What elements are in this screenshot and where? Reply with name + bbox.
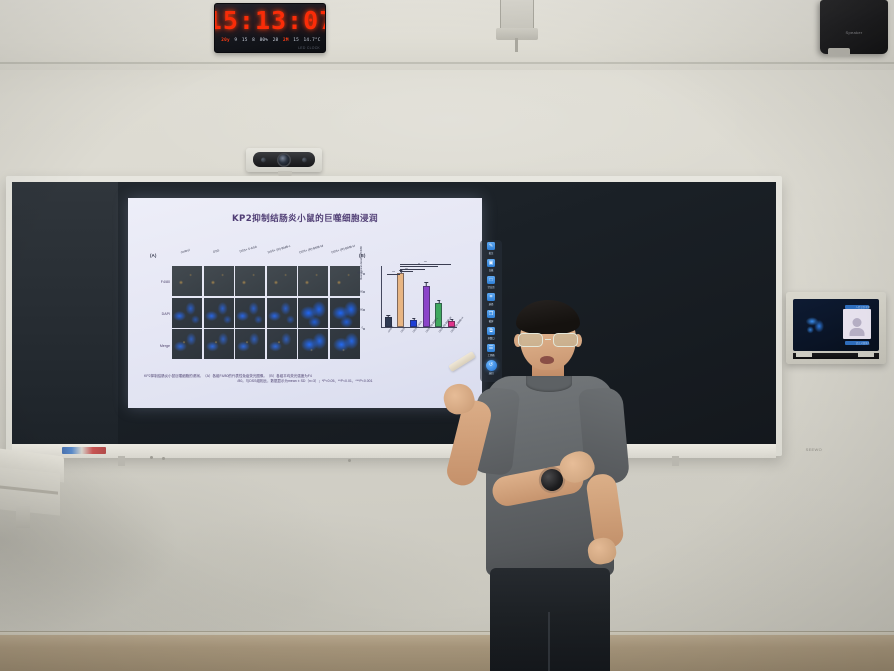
error-cap-3 xyxy=(425,282,428,283)
toolbar-label-2: 空白页 xyxy=(488,285,495,289)
tablet-footer-label: 请正对摄像头 xyxy=(856,341,870,345)
micrograph-column-headers: control DSS DSS+ 5-ASA DSS+ (R)-BMB-L DS… xyxy=(170,246,355,266)
sig-stars-0: *** xyxy=(392,271,395,274)
camera-mic-left-icon xyxy=(261,157,266,162)
micrograph-cell xyxy=(172,298,202,328)
micrograph-cell xyxy=(235,266,265,296)
row-label-f480: F4/80 xyxy=(142,280,170,284)
classroom-scene: Speaker 15:13:07 20y 9 15 8 80% 28 2M 15… xyxy=(0,0,894,671)
y-tick-3: 6000 xyxy=(352,272,363,275)
glasses-lens-right xyxy=(553,333,578,347)
micrograph-cell xyxy=(267,298,297,328)
glasses-icon xyxy=(518,332,578,347)
presenter-hair xyxy=(516,300,580,334)
presenter xyxy=(440,292,640,671)
presenter-mouth xyxy=(540,356,554,364)
speaker-bracket xyxy=(828,48,850,56)
clock-sub-3: 8 xyxy=(252,38,255,43)
toolbar-icon-2-icon: □ xyxy=(487,276,495,284)
micrograph-row-labels: F4/80 DAPI Merge xyxy=(142,268,170,364)
micrograph-cell xyxy=(172,266,202,296)
led-wall-clock: 15:13:07 20y 9 15 8 80% 28 2M 15 14.7°C … xyxy=(214,3,326,53)
toolbar-item-2[interactable]: □空白页 xyxy=(480,274,502,291)
clock-sub-7: 15 xyxy=(293,38,299,43)
toolbar-item-0[interactable]: ✎批注 xyxy=(480,240,502,257)
toolbar-icon-1-icon: ▣ xyxy=(487,259,495,267)
ceiling-duct xyxy=(500,0,534,30)
board-model-badge: SEEWO xyxy=(806,447,822,452)
clock-secondary-row: 20y 9 15 8 80% 28 2M 15 14.7°C xyxy=(219,35,323,46)
hand-scan-graphic-icon xyxy=(803,313,829,337)
toolbar-item-1[interactable]: ▣白板 xyxy=(480,257,502,274)
wall-tablet-foot-right xyxy=(858,351,874,357)
chart-significance-brackets: ************ xyxy=(381,260,457,278)
row-label-merge: Merge xyxy=(142,344,170,348)
panel-a-label: (A) xyxy=(150,253,156,258)
micrograph-grid xyxy=(172,266,360,359)
clock-brand: LED CLOCK xyxy=(298,46,320,50)
presenter-pants xyxy=(490,568,610,671)
micrograph-cell xyxy=(172,329,202,359)
pointer-stick xyxy=(448,351,475,372)
micrograph-cell xyxy=(330,298,360,328)
clock-sub-4: 80% xyxy=(260,38,269,43)
column-header-bmb-m: DSS+ (R)-BMB-M xyxy=(295,243,329,256)
micrograph-cell xyxy=(267,266,297,296)
id-photo-card xyxy=(843,309,871,339)
camera-icon xyxy=(253,152,315,167)
clock-sub-0: 20y xyxy=(221,38,230,43)
camera-mic-right-icon xyxy=(302,157,307,162)
clock-sub-1: 9 xyxy=(234,38,237,43)
row-label-dapi: DAPI xyxy=(142,312,170,316)
board-screw xyxy=(348,459,351,462)
board-stand-left xyxy=(118,456,125,466)
clock-sub-6: 2M xyxy=(283,38,289,43)
caption-line-2: /80。与DSS组相比，数据显示为mean ± SD（n=3）；*P<0.05、… xyxy=(144,379,466,384)
projected-slide: KP2抑制结肠炎小鼠的巨噬细胞浸润 (A) (B) control DSS DS… xyxy=(128,198,482,408)
error-cap-0 xyxy=(387,315,390,316)
y-tick-1: 2000 xyxy=(352,308,363,311)
column-header-bmb-l: DSS+ (R)-BMB-L xyxy=(263,243,297,256)
ceiling-seam xyxy=(0,62,894,64)
micrograph-cell xyxy=(235,298,265,328)
micrograph-cell xyxy=(267,329,297,359)
micrograph-cell xyxy=(298,266,328,296)
ceiling-band xyxy=(0,0,894,70)
presenter-pant-seam xyxy=(548,612,550,671)
micrograph-cell xyxy=(204,298,234,328)
board-screw xyxy=(162,457,165,460)
column-header-control: control xyxy=(169,245,203,258)
sig-stars-4: *** xyxy=(424,261,427,264)
toolbar-label-0: 批注 xyxy=(489,251,494,255)
micrograph-cell xyxy=(235,329,265,359)
y-tick-2: 4000 xyxy=(352,290,363,293)
clock-sub-5: 28 xyxy=(273,38,279,43)
smart-board-unlit-area xyxy=(12,182,118,444)
caption-line-1: KP2抑制结肠炎小鼠巨噬细胞的浸润。（A）各组F4/80的代表性免疫荧光图像。（… xyxy=(144,374,312,378)
error-bar-0 xyxy=(388,316,389,318)
clock-sub-2: 15 xyxy=(242,38,248,43)
wall-speaker: Speaker xyxy=(820,0,888,54)
glasses-lens-left xyxy=(518,333,543,347)
wall-tablet-foot-left xyxy=(796,351,812,357)
column-header-5asa: DSS+ 5-ASA xyxy=(232,243,266,256)
micrograph-cell xyxy=(204,266,234,296)
clock-time: 15:13:07 xyxy=(215,5,326,35)
glasses-bridge xyxy=(545,339,551,340)
avatar xyxy=(853,318,862,327)
board-screw xyxy=(150,456,153,459)
column-header-bmb-h: DSS+ (R)-BMB-H xyxy=(327,243,361,256)
error-bar-3 xyxy=(426,283,427,286)
speaker-logo: Speaker xyxy=(846,30,863,35)
micrograph-cell xyxy=(330,329,360,359)
camera-lens-icon xyxy=(279,154,290,165)
toolbar-icon-0-icon: ✎ xyxy=(487,242,495,250)
smart-board-bottom-bar xyxy=(12,444,776,458)
lectern-leg xyxy=(16,506,30,528)
chart-y-axis-label: Mean optical density of F4/80 xyxy=(360,240,363,286)
column-header-dss: DSS xyxy=(200,245,234,258)
avatar-body xyxy=(850,328,865,336)
micrograph-cell xyxy=(298,298,328,328)
board-brand-logo xyxy=(62,447,106,454)
y-tick-0: 0 xyxy=(352,327,363,330)
slide-title: KP2抑制结肠炎小鼠的巨噬细胞浸润 xyxy=(128,212,482,224)
board-stand-right xyxy=(672,456,679,466)
micrograph-cell xyxy=(298,329,328,359)
slide-caption: KP2抑制结肠炎小鼠巨噬细胞的浸润。（A）各组F4/80的代表性免疫荧光图像。（… xyxy=(144,374,466,384)
ceiling-duct-rod xyxy=(515,38,518,52)
presenter-collar xyxy=(526,376,572,392)
clock-sub-8: 14.7°C xyxy=(304,38,321,43)
wall-tablet-screen[interactable]: 人脸识别考勤 请正对摄像头 xyxy=(793,299,879,351)
toolbar-label-1: 白板 xyxy=(489,268,494,272)
micrograph-cell xyxy=(204,329,234,359)
